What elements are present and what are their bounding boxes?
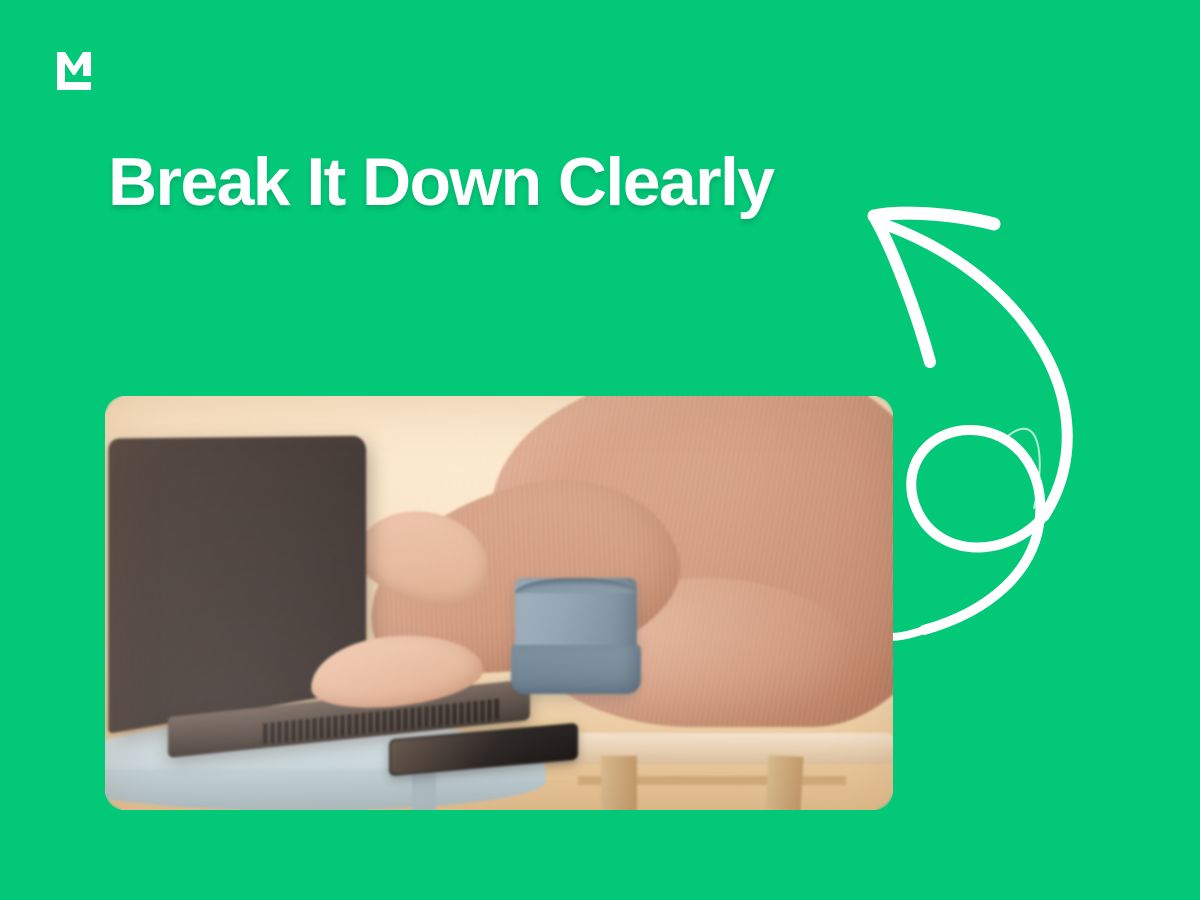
hero-photo: [105, 396, 893, 810]
hand-drawn-curly-arrow-icon: [858, 186, 1108, 666]
photo-vignette: [105, 396, 893, 810]
brand-logo-m-icon[interactable]: [54, 50, 94, 92]
photo-composition: [105, 396, 893, 810]
slide-canvas: Break It Down Clearly: [0, 0, 1200, 900]
page-title: Break It Down Clearly: [108, 146, 908, 218]
